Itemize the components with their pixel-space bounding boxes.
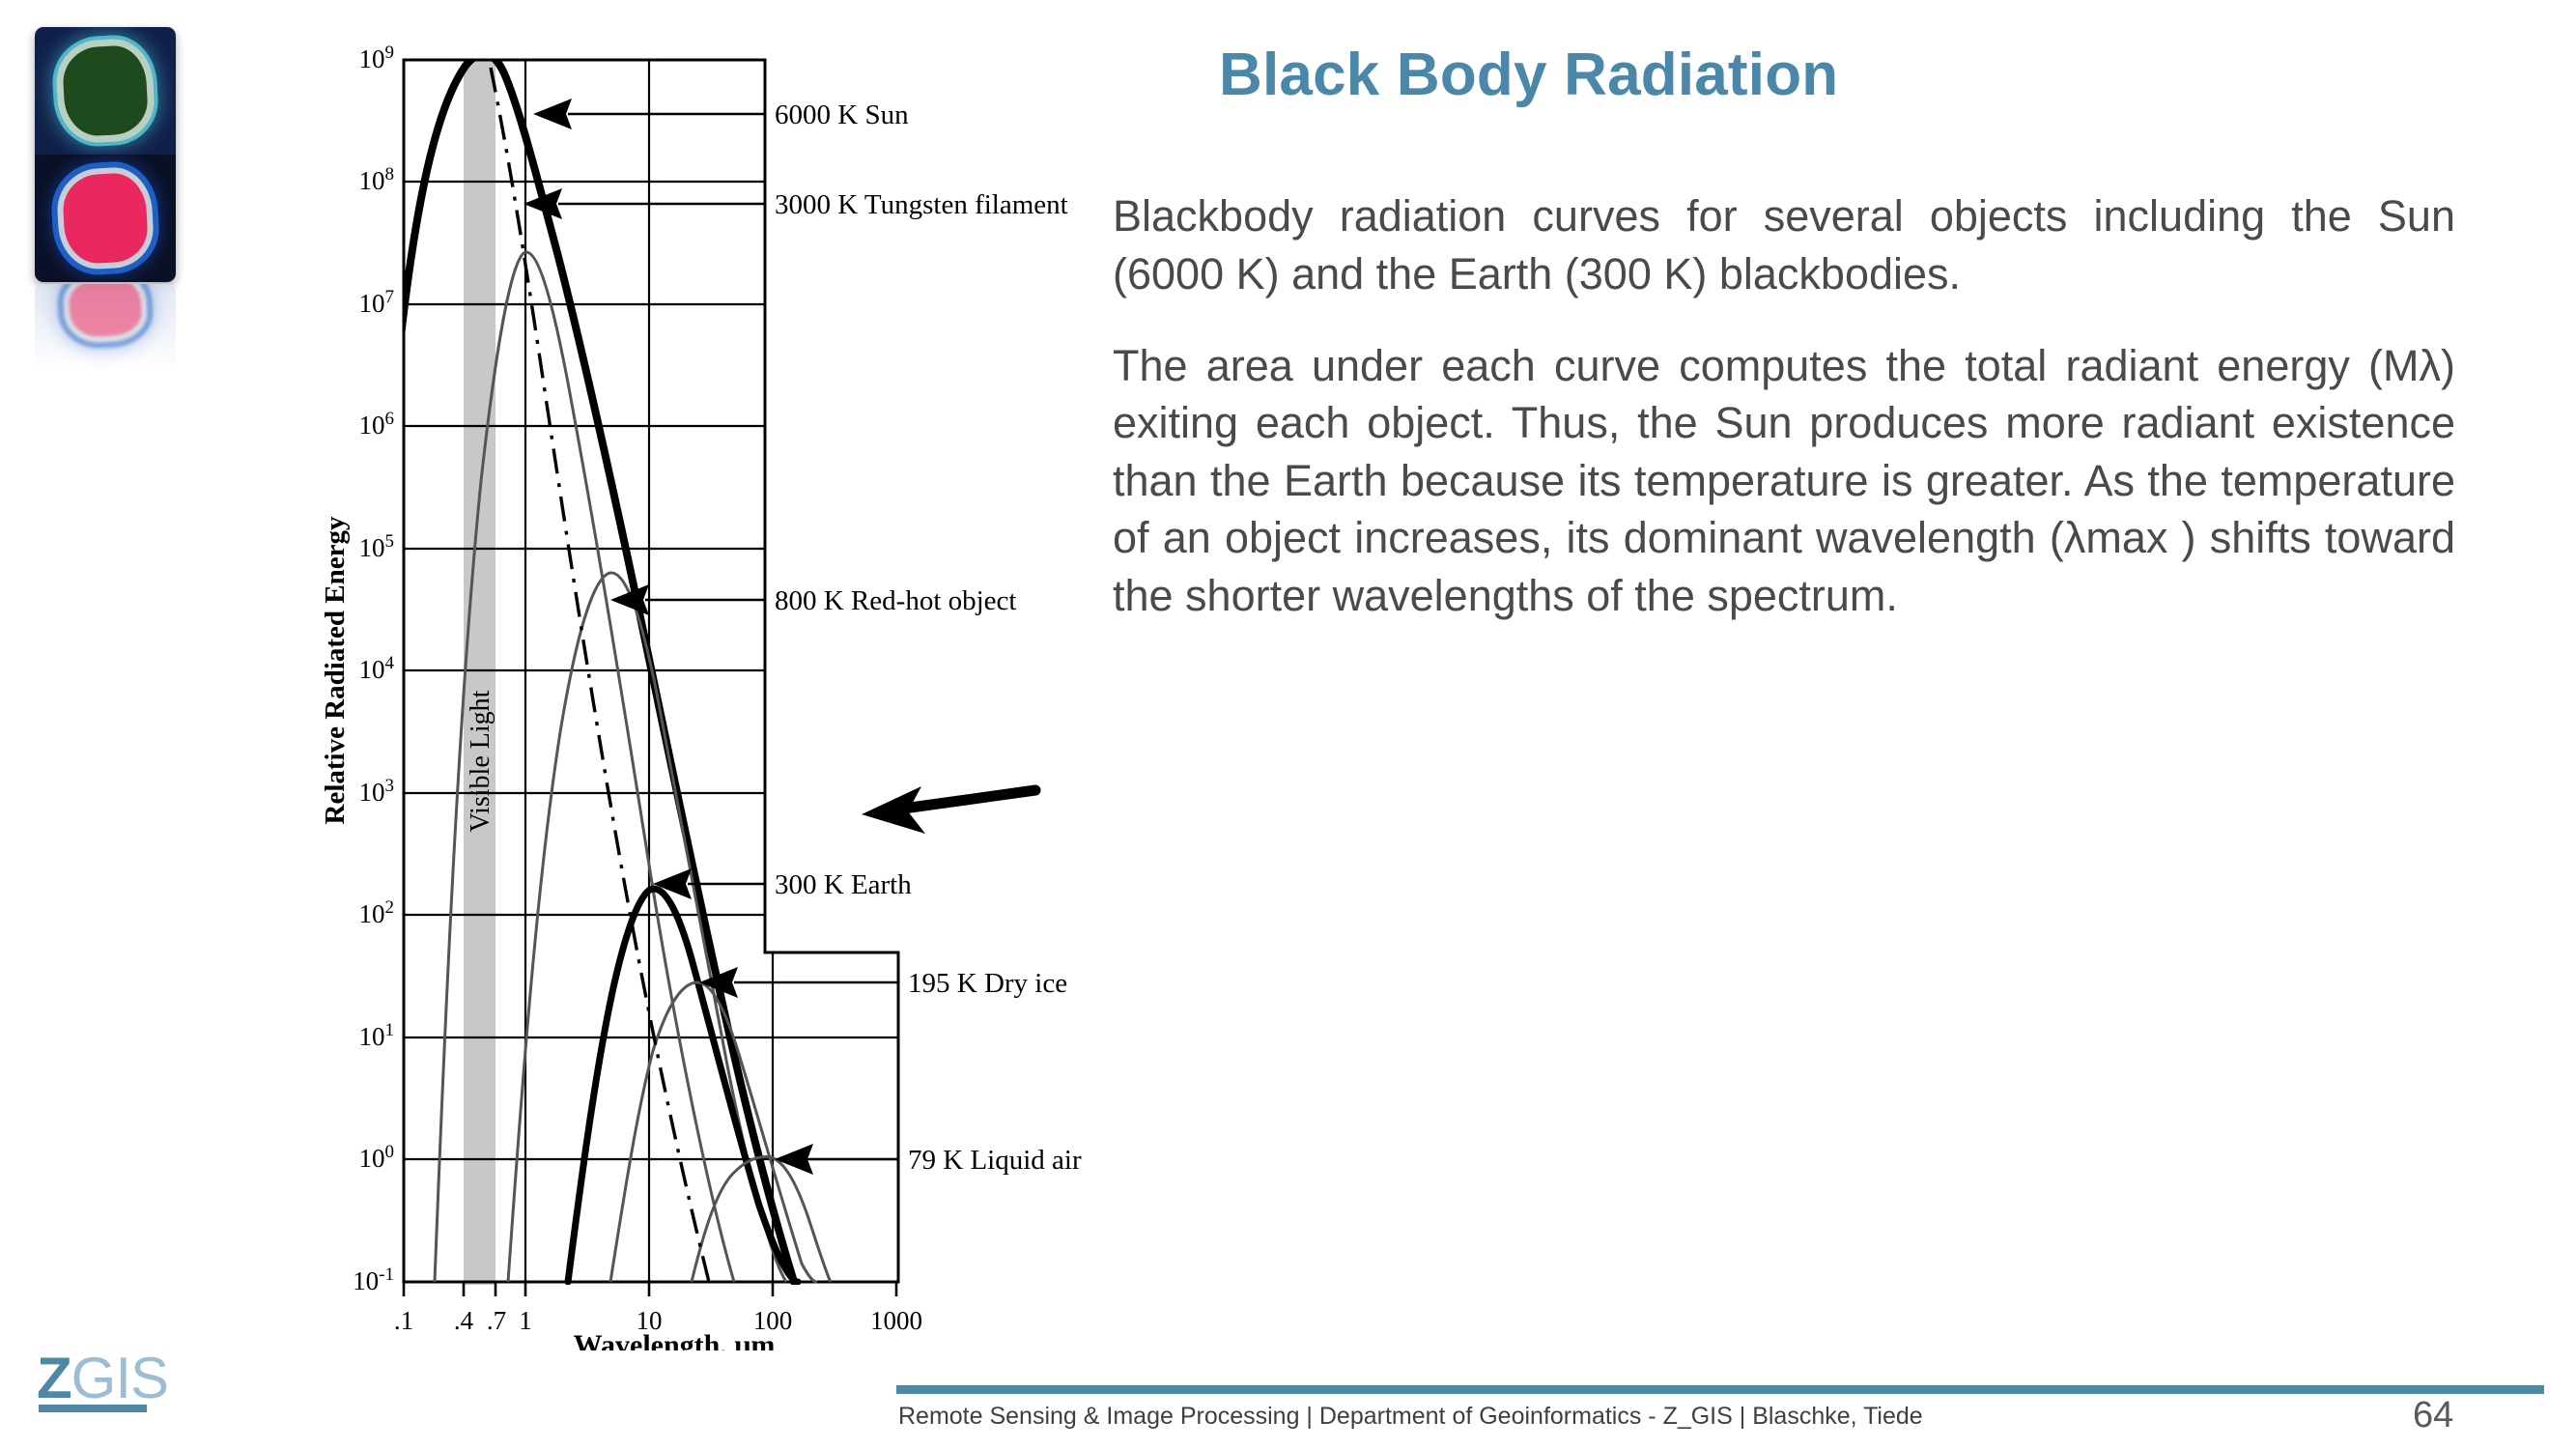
image-thumbnail-stack[interactable]	[35, 27, 176, 373]
curve-label-800k: 800 K Red-hot object	[775, 585, 1016, 616]
slide-canvas: 109 108 107 106 105 104 103 102 101 100 …	[0, 0, 2576, 1449]
thumbnail-reflection	[35, 284, 176, 373]
blackbody-radiation-chart: 109 108 107 106 105 104 103 102 101 100 …	[319, 17, 1120, 1350]
logo-underscore	[39, 1405, 147, 1412]
svg-text:109: 109	[359, 43, 395, 73]
curve-800k-red-hot	[508, 573, 786, 1282]
curve-195k-dry-ice	[610, 982, 817, 1282]
visible-light-label: Visible Light	[466, 690, 495, 832]
atoll-natural-color-image	[35, 27, 176, 155]
curve-wien-locus	[491, 68, 709, 1282]
callout-arrow-800k	[610, 584, 649, 615]
svg-text:103: 103	[359, 776, 395, 807]
svg-text:102: 102	[359, 897, 395, 928]
emphasis-arrow	[862, 786, 1035, 834]
footer-text: Remote Sensing & Image Processing | Depa…	[898, 1403, 1923, 1431]
curve-label-79k: 79 K Liquid air	[908, 1145, 1082, 1176]
svg-text:100: 100	[359, 1142, 395, 1173]
atoll-image-pair[interactable]	[35, 27, 176, 282]
callout-arrow-6000k	[533, 99, 572, 129]
svg-text:105: 105	[359, 531, 395, 562]
body-paragraph-2: The area under each curve computes the t…	[1113, 337, 2455, 624]
svg-text:106: 106	[359, 409, 395, 440]
curve-label-3000k: 3000 K Tungsten filament	[775, 189, 1068, 220]
xtick-0: .1	[394, 1306, 413, 1335]
xtick-3: 1	[519, 1306, 532, 1335]
curve-300k-earth	[568, 889, 798, 1282]
logo-name-gis: GIS	[71, 1346, 168, 1410]
xtick-6: 1000	[870, 1306, 922, 1335]
svg-text:108: 108	[359, 164, 395, 195]
content-column: Black Body Radiation Blackbody radiation…	[1113, 43, 2455, 624]
svg-text:104: 104	[359, 653, 395, 684]
curve-label-195k: 195 K Dry ice	[908, 968, 1067, 999]
footer-divider	[896, 1385, 2544, 1394]
atoll-shape-infrared	[62, 172, 150, 265]
visible-light-band	[464, 60, 495, 1285]
curve-label-300k: 300 K Earth	[775, 869, 912, 900]
atoll-shape-natural	[62, 44, 150, 137]
svg-text:107: 107	[359, 287, 395, 318]
y-axis-tick-labels: 109 108 107 106 105 104 103 102 101 100 …	[353, 43, 394, 1295]
body-paragraph-1: Blackbody radiation curves for several o…	[1113, 187, 2455, 302]
svg-text:10-1: 10-1	[353, 1264, 394, 1295]
curve-label-6000k: 6000 K Sun	[775, 99, 909, 130]
page-number: 64	[2413, 1395, 2453, 1436]
zgis-logo[interactable]: ZGIS	[37, 1345, 168, 1420]
callout-arrow-300k	[653, 868, 692, 899]
atoll-false-color-infrared-image	[35, 155, 176, 282]
svg-text:101: 101	[359, 1020, 395, 1051]
chart-svg: 109 108 107 106 105 104 103 102 101 100 …	[319, 17, 1120, 1350]
xtick-1: .4	[454, 1306, 474, 1335]
curve-labels: 6000 K Sun 3000 K Tungsten filament 800 …	[775, 99, 1082, 1176]
logo-mark-z: Z	[37, 1346, 71, 1410]
page-title: Black Body Radiation	[1219, 43, 2455, 108]
xtick-2: .7	[487, 1306, 506, 1335]
y-axis-title: Relative Radiated Energy	[320, 516, 351, 824]
atoll-shape-reflection	[68, 284, 142, 338]
callout-arrow-79k	[775, 1144, 813, 1175]
x-axis-title: Wavelength, μm	[574, 1329, 776, 1350]
